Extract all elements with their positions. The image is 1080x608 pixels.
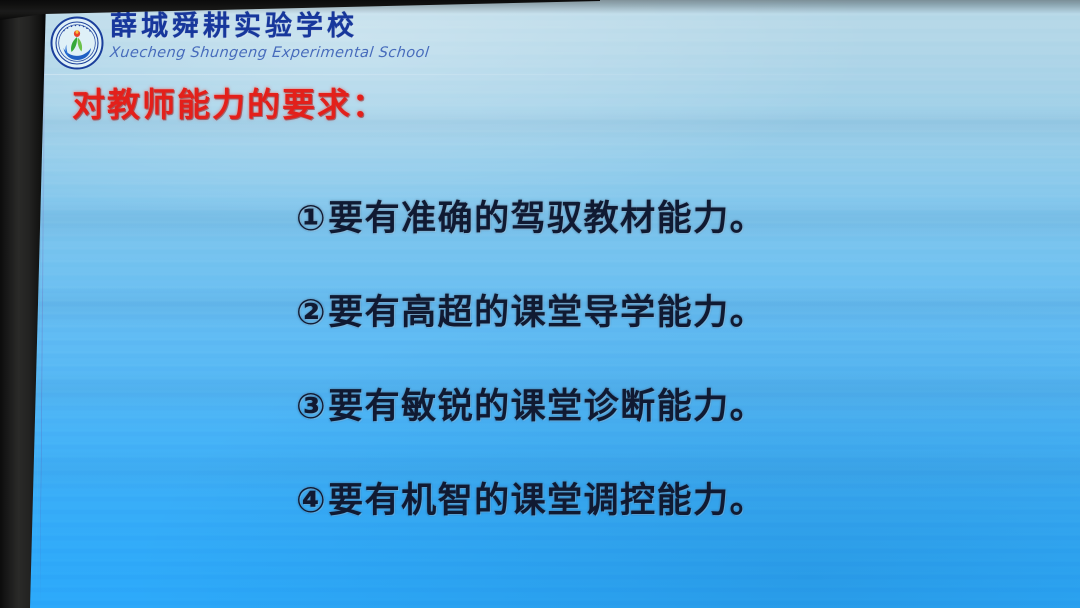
slide-bullet-list: ① 要有准确的驾驭教材能力。 ② 要有高超的课堂导学能力。 ③ 要有敏锐的课堂诊… bbox=[296, 190, 1056, 566]
bullet-text: 要有敏锐的课堂诊断能力。 bbox=[328, 378, 766, 429]
bullet-text: 要有准确的驾驭教材能力。 bbox=[328, 190, 766, 241]
bullet-marker: ① bbox=[296, 199, 327, 239]
bullet-text: 要有高超的课堂导学能力。 bbox=[328, 284, 766, 335]
slide-title: 对教师能力的要求： bbox=[72, 78, 387, 126]
bullet-marker: ③ bbox=[296, 387, 327, 427]
school-name-en: Xuecheng Shungeng Experimental School bbox=[109, 44, 430, 62]
school-name-group: 薛城舜耕实验学校 Xuecheng Shungeng Experimental … bbox=[110, 12, 429, 62]
list-item: ④ 要有机智的课堂调控能力。 bbox=[296, 472, 1056, 566]
school-name-cn: 薛城舜耕实验学校 bbox=[110, 12, 429, 42]
bullet-text: 要有机智的课堂调控能力。 bbox=[328, 472, 766, 523]
screenshot-root: 薛城舜耕实验学校 Xuecheng Shungeng Experimental … bbox=[0, 0, 1080, 608]
bullet-marker: ④ bbox=[296, 481, 327, 521]
list-item: ② 要有高超的课堂导学能力。 bbox=[296, 284, 1056, 378]
list-item: ③ 要有敏锐的课堂诊断能力。 bbox=[296, 378, 1056, 472]
header-divider bbox=[42, 74, 1080, 75]
school-crest-icon bbox=[50, 16, 104, 70]
bullet-marker: ② bbox=[296, 293, 327, 333]
list-item: ① 要有准确的驾驭教材能力。 bbox=[296, 190, 1056, 284]
slide-header: 薛城舜耕实验学校 Xuecheng Shungeng Experimental … bbox=[42, 10, 1080, 72]
